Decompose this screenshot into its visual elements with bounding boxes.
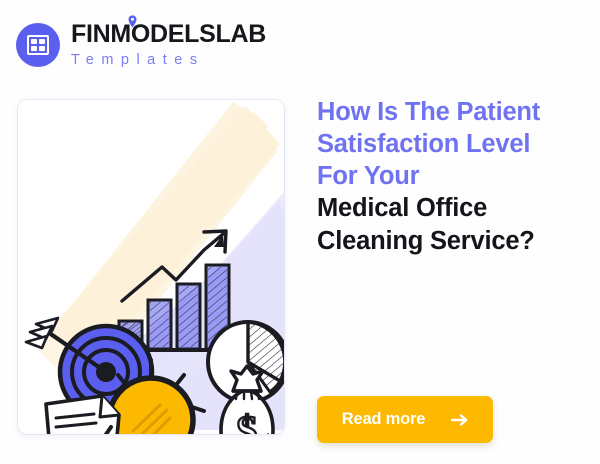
arrow-right-icon xyxy=(451,413,468,427)
svg-text:$: $ xyxy=(237,409,258,434)
grid-squares-icon xyxy=(27,35,49,55)
page-title: How Is The Patient Satisfaction Level Fo… xyxy=(317,96,585,257)
brand-tagline: Templates xyxy=(71,53,266,68)
headline-line-2: Satisfaction Level xyxy=(317,128,585,160)
headline-line-4: Medical Office xyxy=(317,192,585,224)
headline-line-5: Cleaning Service? xyxy=(317,225,585,257)
business-analytics-balance-illustration: $ xyxy=(18,100,284,434)
brand-logo[interactable]: FINMODELSLAB Templates xyxy=(16,22,266,68)
map-pin-icon xyxy=(128,15,137,28)
illustration-card: $ xyxy=(18,100,284,434)
brand-wordmark: FINMODELSLAB Templates xyxy=(71,22,266,68)
document-checklist-icon xyxy=(46,396,119,434)
headline-line-3: For Your xyxy=(317,160,585,192)
gold-coin-idea-icon xyxy=(109,378,193,434)
read-more-button[interactable]: Read more xyxy=(317,396,493,443)
brand-name: FINMODELSLAB xyxy=(71,22,266,47)
logo-circle xyxy=(16,23,60,67)
promo-banner: FINMODELSLAB Templates xyxy=(0,0,600,464)
read-more-label: Read more xyxy=(342,410,425,429)
headline-line-1: How Is The Patient xyxy=(317,96,585,128)
headline-block: How Is The Patient Satisfaction Level Fo… xyxy=(317,96,585,257)
